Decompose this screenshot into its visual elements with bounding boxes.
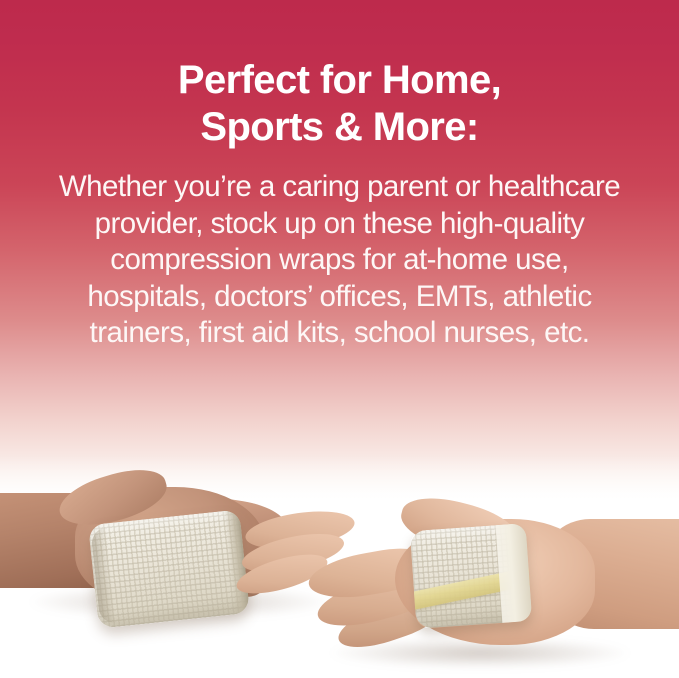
body-line-5: trainers, first aid kits, school nurses,… [17,315,662,352]
page-title: Perfect for Home, Sports & More: [40,57,640,151]
right-hand-group [300,505,679,678]
body-line-3: compression wraps for at-home use, [17,242,662,279]
headline-line-1: Perfect for Home, [40,57,640,104]
text-block: Perfect for Home, Sports & More: Whether… [0,0,679,352]
product-photo-stage [0,400,679,678]
body-line-4: hospitals, doctors’ offices, EMTs, athle… [17,279,662,316]
promo-card: Perfect for Home, Sports & More: Whether… [0,0,679,678]
body-line-1: Whether you’re a caring parent or health… [17,169,662,206]
headline-line-2: Sports & More: [40,104,640,151]
compression-wrap-roll-small [410,523,533,629]
body-line-2: provider, stock up on these high-quality [17,206,662,243]
body-copy: Whether you’re a caring parent or health… [17,169,662,352]
compression-wrap-roll-large [88,509,250,628]
